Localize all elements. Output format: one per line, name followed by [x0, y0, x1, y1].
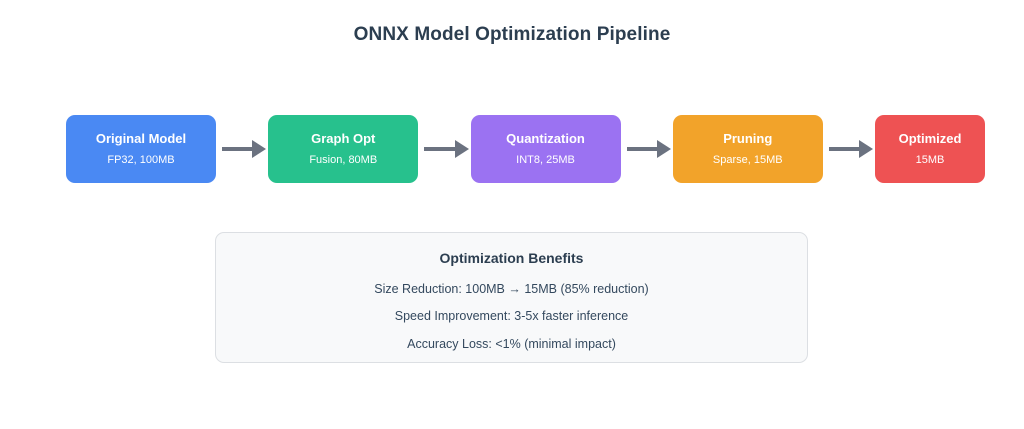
stage-title: Optimized [899, 131, 962, 147]
pipeline-stage[interactable]: QuantizationINT8, 25MB [471, 115, 621, 183]
benefits-heading: Optimization Benefits [440, 250, 584, 266]
pipeline-flow: Original ModelFP32, 100MBGraph OptFusion… [66, 115, 985, 183]
flow-arrow-icon [621, 138, 673, 160]
stage-detail: 15MB [916, 154, 945, 168]
benefits-panel: Optimization Benefits Size Reduction: 10… [215, 232, 808, 363]
page-title: ONNX Model Optimization Pipeline [0, 24, 1024, 46]
pipeline-stage[interactable]: Original ModelFP32, 100MB [66, 115, 216, 183]
flow-arrow-icon [216, 138, 268, 160]
stage-detail: INT8, 25MB [516, 154, 575, 168]
benefit-item: Accuracy Loss: <1% (minimal impact) [407, 336, 616, 352]
stage-detail: FP32, 100MB [107, 154, 174, 168]
stage-detail: Sparse, 15MB [713, 154, 783, 168]
stage-title: Pruning [723, 131, 772, 147]
stage-title: Quantization [506, 131, 585, 147]
benefit-item: Size Reduction: 100MB → 15MB (85% reduct… [374, 281, 648, 297]
flow-arrow-icon [823, 138, 875, 160]
pipeline-stage[interactable]: PruningSparse, 15MB [673, 115, 823, 183]
pipeline-stage[interactable]: Graph OptFusion, 80MB [268, 115, 418, 183]
pipeline-stage[interactable]: Optimized15MB [875, 115, 985, 183]
flow-arrow-icon [418, 138, 470, 160]
stage-title: Graph Opt [311, 131, 375, 147]
benefit-item: Speed Improvement: 3-5x faster inference [395, 308, 628, 324]
stage-detail: Fusion, 80MB [309, 154, 377, 168]
stage-title: Original Model [96, 131, 186, 147]
